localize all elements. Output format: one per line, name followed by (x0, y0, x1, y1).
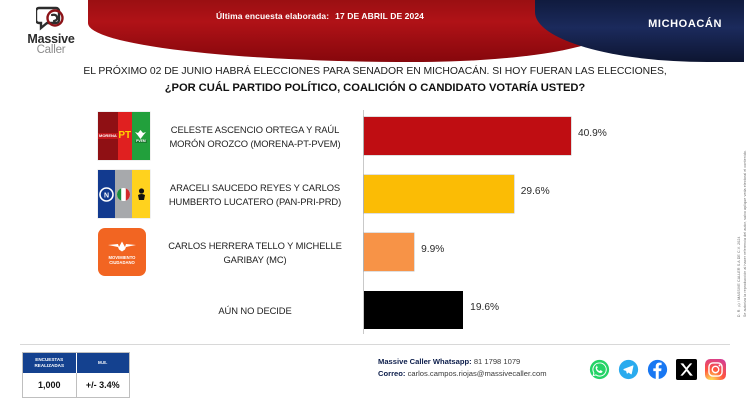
question-line-2: ¿POR CUÁL PARTIDO POLÍTICO, COALICIÓN O … (0, 80, 750, 96)
bar-value-label: 19.6% (470, 302, 499, 313)
bar-movimiento-ciudadano (364, 233, 414, 271)
party-logo-morena: MORENA (98, 112, 118, 160)
survey-date-label: Última encuesta elaborada: (216, 11, 329, 21)
candidate-name: CARLOS HERRERA TELLO Y MICHELLE GARIBAY … (152, 230, 358, 276)
candidate-name-line-2: MORÓN OROZCO (MORENA-PT-PVEM) (169, 137, 340, 152)
party-logo-group-morena-pt-pvem: MORENA PT PVEM (98, 112, 150, 160)
bar-value-label: 40.9% (578, 128, 607, 139)
methodology-table: ENCUESTAS REALIZADAS M.E. 1,000 +/- 3.4% (22, 352, 130, 398)
header-navy-shape (535, 0, 750, 62)
prd-sun-icon (136, 187, 147, 201)
whatsapp-label: Massive Caller Whatsapp: (378, 357, 472, 366)
telegram-icon[interactable] (617, 358, 639, 380)
mc-logo-text: MOVIMIENTO CIUDADANO (109, 255, 136, 265)
bar-morena-pt-pvem (364, 117, 571, 155)
footer-divider (20, 344, 730, 345)
party-abbr-pvem: PVEM (135, 140, 147, 143)
cell-surveys-count: 1,000 (23, 373, 76, 397)
whatsapp-line: Massive Caller Whatsapp: 81 1798 1079 (378, 356, 608, 368)
pri-emblem-icon (116, 187, 131, 202)
table-row: N ARACELI SAU (0, 166, 750, 222)
methodology-table-header: ENCUESTAS REALIZADAS M.E. (23, 353, 129, 373)
column-header-surveys: ENCUESTAS REALIZADAS (23, 353, 76, 373)
column-header-margin-error: M.E. (76, 353, 130, 373)
bar-pan-pri-prd (364, 175, 514, 213)
candidate-name-line-1: CARLOS HERRERA TELLO Y MICHELLE (168, 239, 342, 254)
table-row: MORENA PT PVEM CELESTE ASCENCIO ORTEGA Y… (0, 108, 750, 164)
pan-emblem-icon: N (99, 187, 114, 202)
state-label: MICHOACÁN (648, 18, 722, 30)
footer: ENCUESTAS REALIZADAS M.E. 1,000 +/- 3.4%… (0, 344, 750, 406)
party-logo-movimiento-ciudadano: MOVIMIENTO CIUDADANO (98, 228, 146, 276)
candidate-name-line-1: CELESTE ASCENCIO ORTEGA Y RAÚL (171, 123, 339, 138)
candidate-name-line-2: GARIBAY (MC) (223, 253, 286, 268)
facebook-icon[interactable] (646, 358, 668, 380)
party-logo-group-pan-pri-prd: N (98, 170, 150, 218)
contact-info: Massive Caller Whatsapp: 81 1798 1079 Co… (378, 356, 608, 379)
party-abbr-morena: MORENA (98, 133, 119, 139)
table-row: AÚN NO DECIDE 19.6% (0, 282, 750, 338)
brand-logo: Massive Caller (14, 6, 88, 58)
bar-undecided (364, 291, 463, 329)
svg-text:N: N (104, 192, 109, 199)
copyright-vertical-notice: D. R. ¡©! MASSIVE CALLER S.A DE C.V. 202… (736, 150, 748, 317)
party-logo-pri (115, 170, 132, 218)
poll-question: EL PRÓXIMO 02 DE JUNIO HABRÁ ELECCIONES … (0, 64, 750, 96)
results-chart: MORENA PT PVEM CELESTE ASCENCIO ORTEGA Y… (0, 104, 750, 340)
speech-bubble-icon (36, 6, 66, 32)
header-banner: Massive Caller Última encuesta elaborada… (0, 0, 750, 62)
candidate-name-line-2: HUMBERTO LUCATERO (PAN-PRI-PRD) (169, 195, 341, 210)
survey-date: Última encuesta elaborada:17 DE ABRIL DE… (190, 11, 450, 21)
undecided-label: AÚN NO DECIDE (152, 288, 358, 334)
cell-margin-error: +/- 3.4% (76, 373, 130, 397)
x-twitter-icon[interactable] (675, 358, 697, 380)
copyright-line-2: Se autoriza la reproducción al hacer ref… (742, 150, 748, 317)
party-abbr-pt: PT (118, 131, 131, 141)
table-row: MOVIMIENTO CIUDADANO CARLOS HERRERA TELL… (0, 224, 750, 280)
bar-value-label: 9.9% (421, 244, 444, 255)
survey-date-value: 17 DE ABRIL DE 2024 (335, 11, 424, 21)
mc-logo-line-2: CIUDADANO (109, 260, 135, 265)
question-line-1: EL PRÓXIMO 02 DE JUNIO HABRÁ ELECCIONES … (0, 64, 750, 79)
candidate-name: CELESTE ASCENCIO ORTEGA Y RAÚL MORÓN ORO… (152, 114, 358, 160)
instagram-icon[interactable] (704, 358, 726, 380)
party-logo-pvem: PVEM (132, 112, 150, 160)
email-label: Correo: (378, 369, 405, 378)
whatsapp-icon[interactable] (588, 358, 610, 380)
party-logo-pt: PT (118, 112, 132, 160)
party-logo-prd (132, 170, 150, 218)
methodology-table-body: 1,000 +/- 3.4% (23, 373, 129, 397)
candidate-name-line-1: ARACELI SAUCEDO REYES Y CARLOS (170, 181, 340, 196)
header-right-edge (744, 0, 750, 62)
social-links (588, 358, 726, 380)
whatsapp-number[interactable]: 81 1798 1079 (474, 357, 520, 366)
email-address[interactable]: carlos.campos.riojas@massivecaller.com (408, 369, 547, 378)
email-line: Correo: carlos.campos.riojas@massivecall… (378, 368, 608, 380)
infographic-root: Massive Caller Última encuesta elaborada… (0, 0, 750, 406)
mc-wings-icon (107, 240, 137, 253)
candidate-name: ARACELI SAUCEDO REYES Y CARLOS HUMBERTO … (152, 172, 358, 218)
party-logo-pan: N (98, 170, 115, 218)
header-red-shape (88, 0, 608, 62)
brand-name-secondary: Caller (14, 44, 88, 56)
undecided-text: AÚN NO DECIDE (218, 304, 291, 319)
bar-value-label: 29.6% (521, 186, 550, 197)
